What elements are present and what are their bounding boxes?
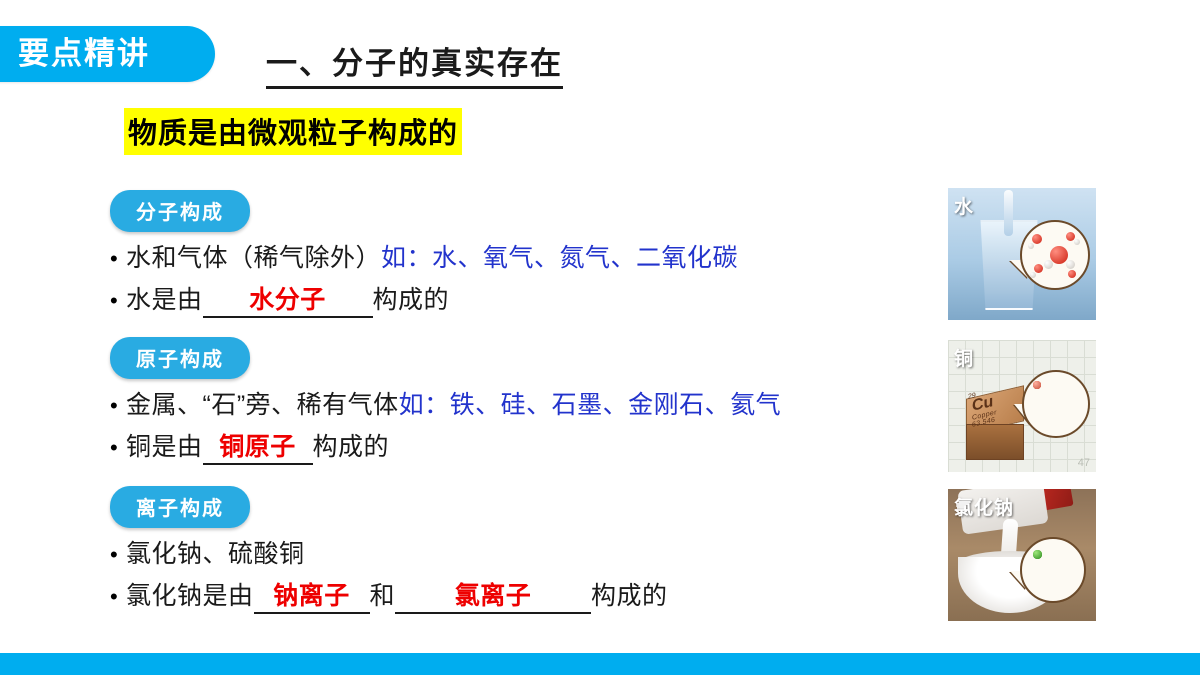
bullet-dot-icon: • [110, 586, 126, 608]
bullet-dot-icon: • [110, 290, 126, 312]
nacl-blank-conjunction: 和 [370, 580, 396, 612]
photo-copper: 29 Cu Copper 63.546 47 铜 [948, 340, 1096, 472]
atom-examples-blue: 如：铁、硅、石墨、金刚石、氦气 [399, 389, 782, 421]
photo-sodium-chloride: 氯化钠 [948, 489, 1096, 621]
nacl-blank-answer-chloride[interactable]: 氯离子 [395, 580, 591, 614]
bullet-dot-icon: • [110, 395, 126, 417]
header-pill-label: 要点精讲 [18, 26, 150, 82]
nacl-blank-answer-sodium[interactable]: 钠离子 [254, 580, 370, 614]
bullet-molecule-examples: • 水和气体（稀气除外） 如：水、氧气、氮气、二氧化碳 [110, 242, 738, 274]
atom-examples-black: 金属、“石”旁、稀有气体 [126, 389, 399, 421]
header-banner-pill: 要点精讲 [0, 26, 215, 82]
photo-label-water: 水 [954, 192, 974, 219]
copper-blank-prefix: 铜是由 [126, 431, 203, 463]
bullet-dot-icon: • [110, 248, 126, 270]
copper-cube-front-face [966, 424, 1024, 460]
bullet-dot-icon: • [110, 437, 126, 459]
nacl-blank-prefix: 氯化钠是由 [126, 580, 254, 612]
water-blank-answer[interactable]: 水分子 [203, 284, 373, 318]
ion-examples-black: 氯化钠、硫酸铜 [126, 538, 305, 570]
copper-blank-suffix: 构成的 [313, 431, 390, 463]
page-title: 一、分子的真实存在 [266, 38, 563, 89]
photo-water: 水 [948, 188, 1096, 320]
photo-label-copper: 铜 [954, 344, 974, 371]
molecule-examples-black: 水和气体（稀气除外） [126, 242, 381, 274]
subtitle-container: 物质是由微观粒子构成的 [124, 108, 462, 155]
section-molecule: 分子构成 • 水和气体（稀气除外） 如：水、氧气、氮气、二氧化碳 • 水是由 水… [110, 190, 738, 318]
molecule-examples-blue: 如：水、氧气、氮气、二氧化碳 [381, 242, 738, 274]
bullet-dot-icon: • [110, 544, 126, 566]
bullet-atom-examples: • 金属、“石”旁、稀有气体 如：铁、硅、石墨、金刚石、氦气 [110, 389, 781, 421]
copper-blank-answer[interactable]: 铜原子 [203, 431, 313, 465]
bullet-copper-fill-blank: • 铜是由 铜原子 构成的 [110, 431, 781, 465]
badge-molecule-composition: 分子构成 [110, 190, 250, 232]
copper-lattice-callout-bubble [1022, 370, 1090, 438]
highlighted-subtitle: 物质是由微观粒子构成的 [124, 108, 462, 155]
bullet-ion-examples: • 氯化钠、硫酸铜 [110, 538, 668, 570]
bullet-nacl-fill-blank: • 氯化钠是由 钠离子 和 氯离子 构成的 [110, 580, 668, 614]
nacl-lattice-callout-bubble [1020, 537, 1086, 603]
photo-label-sodium-chloride: 氯化钠 [954, 493, 1014, 520]
water-molecule-callout-bubble [1020, 220, 1090, 290]
copper-photo-corner-number: 47 [1078, 457, 1090, 469]
footer-bar [0, 653, 1200, 675]
water-blank-suffix: 构成的 [373, 284, 450, 316]
water-blank-prefix: 水是由 [126, 284, 203, 316]
section-atom: 原子构成 • 金属、“石”旁、稀有气体 如：铁、硅、石墨、金刚石、氦气 • 铜是… [110, 337, 781, 465]
section-ion: 离子构成 • 氯化钠、硫酸铜 • 氯化钠是由 钠离子 和 氯离子 构成的 [110, 486, 668, 614]
copper-symbol-block: Cu Copper 63.546 [972, 393, 997, 429]
badge-ion-composition: 离子构成 [110, 486, 250, 528]
badge-atom-composition: 原子构成 [110, 337, 250, 379]
water-pour-stream-icon [1004, 190, 1013, 236]
nacl-blank-suffix: 构成的 [591, 580, 668, 612]
bullet-water-fill-blank: • 水是由 水分子 构成的 [110, 284, 738, 318]
